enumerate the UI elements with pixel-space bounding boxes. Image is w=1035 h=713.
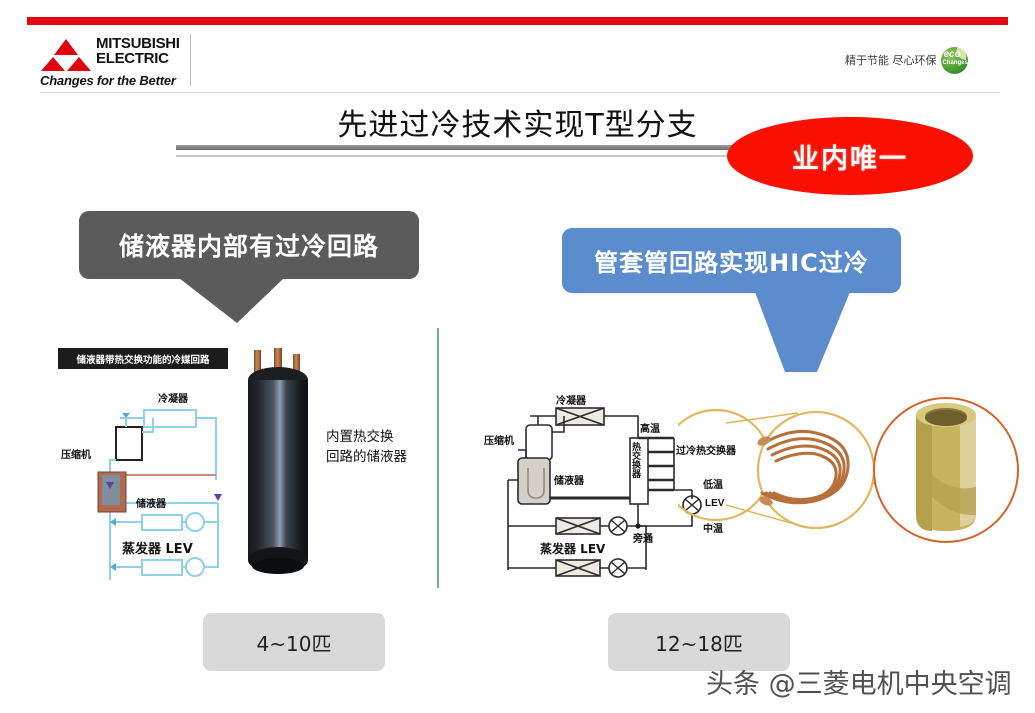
figure-right-hic-circuit: 冷凝器 压缩机 储液器 热交换器 高温 过冷热交换器 低温 LEV 中温 旁通 … (478, 380, 1023, 585)
label-condenser-left: 冷凝器 (158, 390, 188, 405)
header-rule (40, 92, 1000, 93)
eco-slogan: 精于节能 尽心环保 (845, 52, 937, 68)
section-divider (437, 328, 439, 588)
eco-badge-top-text: eco (944, 50, 961, 60)
eco-badge-bottom-text: Changes (943, 60, 968, 66)
eco-changes-block: 精于节能 尽心环保 eco Changes (845, 46, 968, 74)
caption-left-label: 4~10匹 (257, 628, 332, 657)
callout-right-label: 管套管回路实现HIC过冷 (594, 243, 869, 278)
brand-line-1: MITSUBISHI (96, 36, 180, 51)
callout-left: 储液器内部有过冷回路 (79, 211, 419, 279)
label-compressor-left: 压缩机 (61, 446, 91, 461)
label-condenser-right: 冷凝器 (556, 392, 586, 407)
label-evaporator-lev-right: 蒸发器 LEV (540, 540, 605, 557)
status-badge-label: 业内唯一 (792, 137, 908, 176)
label-evaporator-lev-left: 蒸发器 LEV (122, 538, 193, 557)
label-heat-exchanger-vertical: 热交换器 (629, 442, 642, 478)
watermark: 头条 @三菱电机中央空调 (706, 662, 1012, 701)
brand-tagline: Changes for the Better (40, 73, 176, 88)
figure-left-accumulator-circuit: 储液器带热交换功能的冷媒回路 (58, 348, 418, 588)
callout-left-label: 储液器内部有过冷回路 (119, 227, 379, 263)
label-high-temp: 高温 (640, 420, 660, 435)
accumulator-caption-line-2: 回路的储液器 (326, 448, 407, 468)
figure-left-header: 储液器带热交换功能的冷媒回路 (58, 348, 228, 369)
figure-left-header-label: 储液器带热交换功能的冷媒回路 (76, 352, 209, 366)
brand-wordmark: MITSUBISHI ELECTRIC (96, 36, 180, 67)
callout-right-tail-icon (755, 292, 850, 372)
label-receiver-right: 储液器 (554, 472, 584, 487)
mitsubishi-electric-logo: MITSUBISHI ELECTRIC Changes for the Bett… (40, 36, 190, 88)
label-receiver-left: 储液器 (136, 495, 166, 510)
magnification-callouts (678, 375, 1023, 575)
accumulator-caption-line-1: 内置热交换 (326, 428, 407, 448)
caption-box-left: 4~10匹 (203, 613, 385, 671)
callout-left-tail-icon (179, 278, 299, 323)
brand-line-2: ELECTRIC (96, 51, 180, 66)
eco-changes-icon: eco Changes (941, 47, 968, 74)
accumulator-photo (238, 348, 318, 588)
label-bypass: 旁通 (633, 530, 653, 545)
mitsubishi-diamonds-icon (40, 38, 92, 72)
logo-divider (190, 34, 191, 86)
status-badge-industry-only: 业内唯一 (727, 117, 973, 195)
caption-right-label: 12~18匹 (655, 628, 743, 657)
accumulator-caption: 内置热交换 回路的储液器 (326, 428, 407, 467)
top-red-bar (27, 17, 1008, 25)
callout-right: 管套管回路实现HIC过冷 (562, 228, 901, 293)
label-compressor-right: 压缩机 (484, 432, 514, 447)
